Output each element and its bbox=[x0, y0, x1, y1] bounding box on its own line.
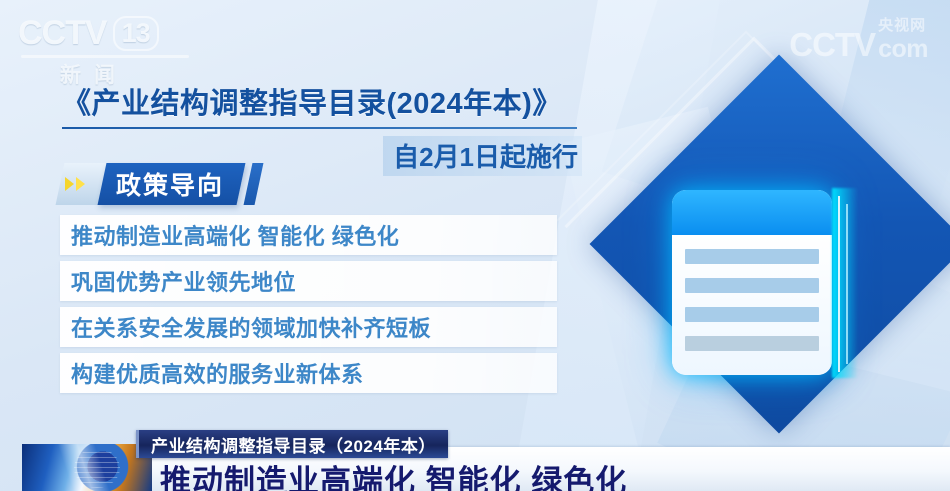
policy-direction-tag-body: 政策导向 bbox=[98, 163, 246, 205]
lower-third-headline: 推动制造业高端化 智能化 绿色化 bbox=[160, 456, 627, 491]
channel-logo-number: 13 bbox=[113, 16, 159, 51]
channel-logo: CCTV 13 新闻 bbox=[18, 14, 233, 76]
document-list-icon bbox=[672, 190, 832, 375]
globe-sweep bbox=[22, 444, 152, 491]
channel-logo-rule bbox=[21, 55, 189, 58]
channel-logo-main: CCTV 13 bbox=[18, 14, 233, 53]
policy-direction-tag-label: 政策导向 bbox=[116, 166, 224, 202]
document-icon-header bbox=[672, 190, 832, 235]
lower-third: 产业结构调整指导目录（2024年本） 推动制造业高端化 智能化 绿色化 bbox=[0, 430, 950, 491]
list-item: 在关系安全发展的领域加快补齐短板 bbox=[60, 307, 557, 347]
watermark-chinese-text: 央视网 bbox=[878, 14, 926, 35]
list-item: 巩固优势产业领先地位 bbox=[60, 261, 557, 301]
document-icon-glow bbox=[846, 204, 848, 364]
list-item: 推动制造业高端化 智能化 绿色化 bbox=[60, 215, 557, 255]
lower-third-kicker: 产业结构调整指导目录（2024年本） bbox=[136, 430, 448, 458]
document-icon-glow bbox=[832, 188, 858, 378]
document-icon-row bbox=[685, 307, 819, 322]
effective-date-subtitle: 自2月1日起施行 bbox=[383, 136, 582, 176]
title-block: 《产业结构调整指导目录(2024年本)》 自2月1日起施行 bbox=[62, 80, 582, 176]
watermark-com-text: com bbox=[878, 35, 928, 64]
page-title: 《产业结构调整指导目录(2024年本)》 bbox=[62, 80, 582, 122]
document-icon-row bbox=[685, 278, 819, 293]
document-icon-row bbox=[685, 336, 819, 351]
news-globe-icon bbox=[22, 444, 152, 491]
document-icon-body bbox=[672, 235, 832, 375]
watermark-right: 央视网 com bbox=[878, 14, 928, 64]
watermark-cctv-text: CCTV bbox=[789, 26, 875, 64]
arrow-icon bbox=[65, 177, 74, 191]
policy-points-list: 推动制造业高端化 智能化 绿色化 巩固优势产业领先地位 在关系安全发展的领域加快… bbox=[60, 215, 557, 399]
watermark: CCTV 央视网 com bbox=[738, 14, 928, 70]
title-divider bbox=[62, 127, 577, 129]
arrow-icon bbox=[76, 177, 85, 191]
list-item-label: 在关系安全发展的领域加快补齐短板 bbox=[71, 311, 431, 343]
document-icon-glow bbox=[838, 196, 840, 372]
channel-logo-text: CCTV bbox=[18, 14, 107, 53]
broadcast-frame: CCTV 13 新闻 CCTV 央视网 com 《产业结构调整指导目录(2024… bbox=[0, 0, 950, 491]
policy-direction-tag: 政策导向 bbox=[60, 163, 259, 205]
list-item: 构建优质高效的服务业新体系 bbox=[60, 353, 557, 393]
list-item-label: 构建优质高效的服务业新体系 bbox=[71, 357, 364, 389]
lower-third-kicker-label: 产业结构调整指导目录（2024年本） bbox=[151, 432, 436, 457]
document-icon-row bbox=[685, 249, 819, 264]
list-item-label: 巩固优势产业领先地位 bbox=[71, 265, 296, 297]
watermark-row: CCTV 央视网 com bbox=[738, 14, 928, 64]
list-item-label: 推动制造业高端化 智能化 绿色化 bbox=[71, 219, 399, 251]
